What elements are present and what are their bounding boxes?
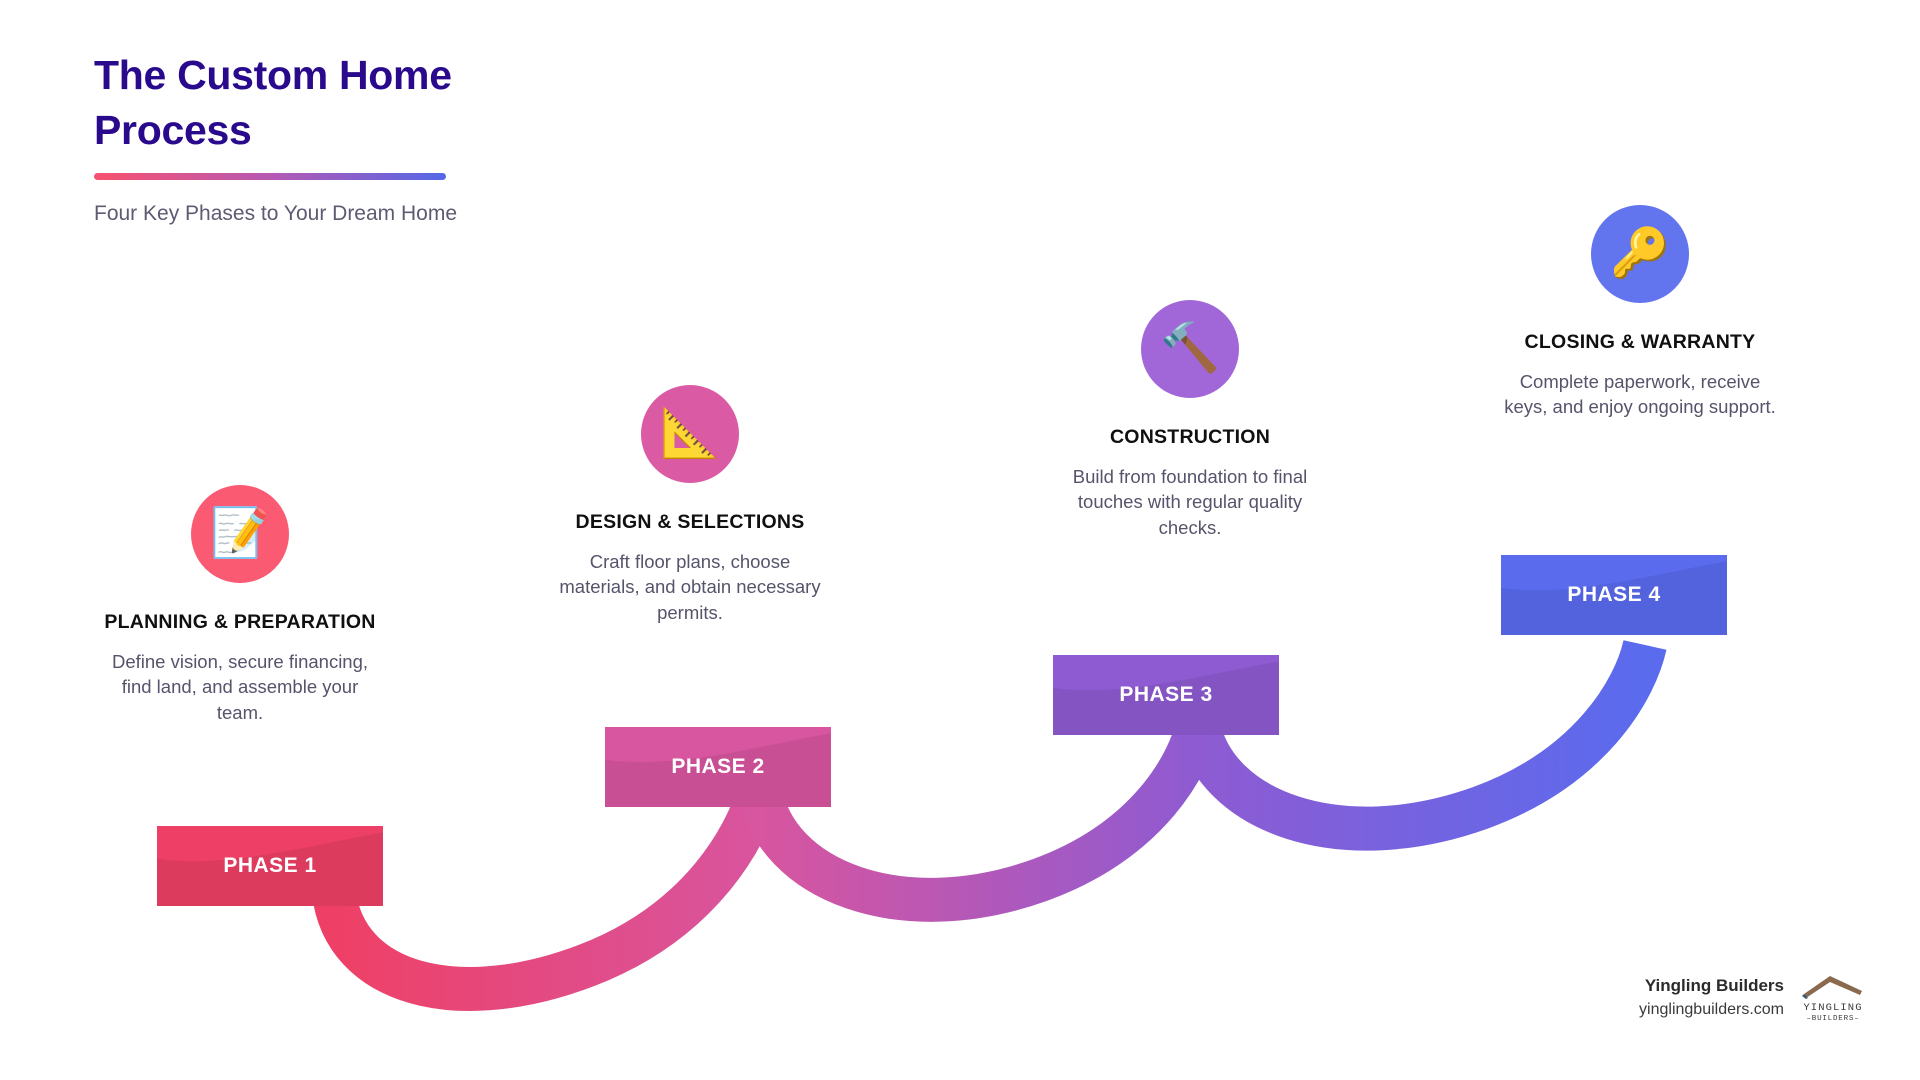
phase-title-3: CONSTRUCTION <box>1045 424 1335 451</box>
phase-description-4: Complete paperwork, receive keys, and en… <box>1495 369 1785 420</box>
triangular-ruler-icon: 📐 <box>641 385 739 483</box>
memo-icon-glyph: 📝 <box>210 510 270 558</box>
hammer-icon: 🔨 <box>1141 300 1239 398</box>
footer-text-block: Yingling Builders yinglingbuilders.com <box>1639 974 1784 1023</box>
phase-description-3: Build from foundation to final touches w… <box>1045 464 1335 541</box>
hammer-icon-glyph: 🔨 <box>1160 325 1220 373</box>
key-icon-glyph: 🔑 <box>1610 230 1670 278</box>
phase-banner-label-2: PHASE 2 <box>671 755 764 779</box>
phase-banner-1[interactable]: PHASE 1 <box>157 826 383 906</box>
footer-website-url[interactable]: yinglingbuilders.com <box>1639 998 1784 1022</box>
page-subtitle: Four Key Phases to Your Dream Home <box>94 202 614 226</box>
phase-title-4: CLOSING & WARRANTY <box>1495 329 1785 356</box>
phase-title-2: DESIGN & SELECTIONS <box>545 509 835 536</box>
triangular-ruler-icon-glyph: 📐 <box>660 410 720 458</box>
memo-icon: 📝 <box>191 485 289 583</box>
yingling-builders-logo: YINGLING –BUILDERS– <box>1800 972 1866 1024</box>
logo-text-bottom: –BUILDERS– <box>1806 1015 1859 1023</box>
phase-description-1: Define vision, secure financing, find la… <box>95 649 385 726</box>
phase-banner-label-3: PHASE 3 <box>1119 683 1212 707</box>
header: The Custom Home Process Four Key Phases … <box>94 48 614 226</box>
logo-text-top: YINGLING <box>1803 1002 1862 1014</box>
phase-card-1: 📝 PLANNING & PREPARATION Define vision, … <box>95 485 385 725</box>
page-title: The Custom Home Process <box>94 48 494 157</box>
title-underline-rule <box>94 173 446 180</box>
phase-card-4: 🔑 CLOSING & WARRANTY Complete paperwork,… <box>1495 205 1785 420</box>
phase-banner-3[interactable]: PHASE 3 <box>1053 655 1279 735</box>
phase-banner-label-1: PHASE 1 <box>223 854 316 878</box>
phase-banner-label-4: PHASE 4 <box>1567 583 1660 607</box>
phase-title-1: PLANNING & PREPARATION <box>95 609 385 636</box>
footer-branding: Yingling Builders yinglingbuilders.com Y… <box>1639 972 1866 1024</box>
phase-card-3: 🔨 CONSTRUCTION Build from foundation to … <box>1045 300 1335 540</box>
ribbon-segment-1 <box>335 790 760 989</box>
phase-description-2: Craft floor plans, choose materials, and… <box>545 549 835 626</box>
key-icon: 🔑 <box>1591 205 1689 303</box>
footer-company-name: Yingling Builders <box>1639 974 1784 999</box>
phase-banner-2[interactable]: PHASE 2 <box>605 727 831 807</box>
phase-card-2: 📐 DESIGN & SELECTIONS Craft floor plans,… <box>545 385 835 625</box>
phase-banner-4[interactable]: PHASE 4 <box>1501 555 1727 635</box>
